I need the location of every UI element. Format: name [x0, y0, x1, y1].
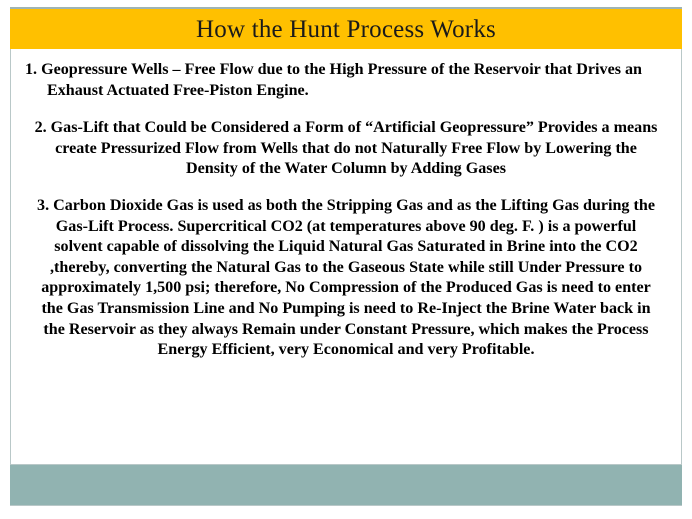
slide-title: How the Hunt Process Works: [196, 17, 496, 42]
slide-title-band: How the Hunt Process Works: [10, 7, 682, 49]
presentation-slide: How the Hunt Process Works 1. Geopressur…: [10, 7, 682, 506]
slide-body: 1. Geopressure Wells – Free Flow due to …: [11, 51, 681, 464]
slide-footer-band: [10, 464, 682, 505]
body-paragraph-1: 1. Geopressure Wells – Free Flow due to …: [25, 60, 667, 101]
body-paragraph-3: 3. Carbon Dioxide Gas is used as both th…: [25, 196, 667, 361]
body-paragraph-2: 2. Gas-Lift that Could be Considered a F…: [25, 118, 667, 180]
